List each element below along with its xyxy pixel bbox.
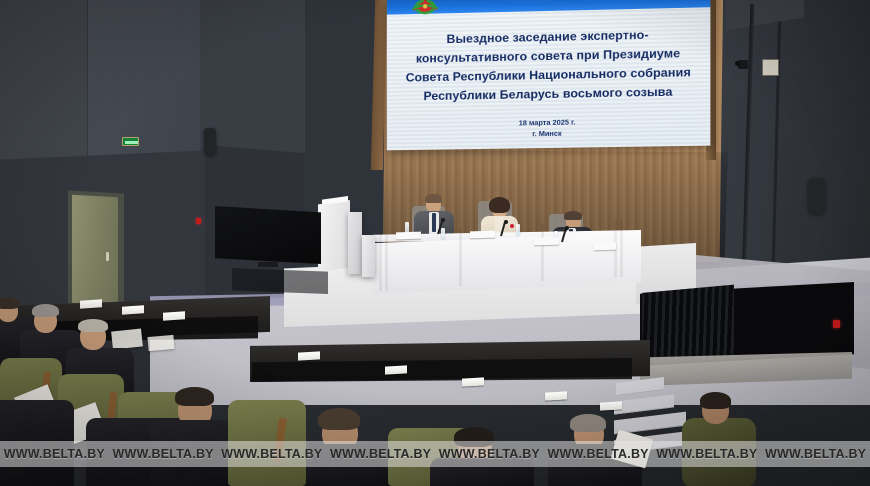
slide-date: 18 марта 2025 г.	[519, 117, 576, 129]
table-panel-rib	[541, 223, 544, 281]
slide-city: г. Минск	[519, 128, 576, 140]
white-lectern	[318, 200, 350, 272]
presidium-name-card	[470, 231, 495, 239]
belta-watermark: WWW.BELTA.BY	[0, 447, 109, 461]
belta-watermark: WWW.BELTA.BY	[761, 447, 870, 461]
wall-speaker	[808, 178, 825, 214]
presidium-name-card	[594, 243, 616, 251]
white-lectern-secondary	[362, 235, 375, 277]
table-panel-rib	[620, 219, 623, 277]
projection-screen: Выездное заседание экспертно- консультат…	[387, 0, 711, 150]
document-paper	[147, 335, 174, 351]
desk-name-card	[385, 365, 407, 374]
desk-name-card	[80, 299, 102, 309]
conference-hall-photo: Выездное заседание экспертно- консультат…	[0, 0, 870, 486]
audience-hair	[700, 392, 731, 409]
slide-title: Выездное заседание экспертно- консультат…	[401, 25, 697, 106]
water-bottle	[441, 228, 445, 240]
belta-watermark-band: WWW.BELTA.BY WWW.BELTA.BY WWW.BELTA.BY W…	[0, 441, 870, 467]
table-panel-rib	[459, 228, 462, 286]
microphone-head	[441, 218, 445, 222]
desk-name-card	[298, 351, 320, 360]
fire-alarm-light	[196, 218, 201, 224]
wall-control-plate[interactable]	[762, 59, 779, 76]
document-paper	[111, 328, 143, 349]
exit-door[interactable]	[72, 195, 118, 305]
belta-watermark: WWW.BELTA.BY	[326, 447, 435, 461]
table-panel-rib	[379, 233, 382, 291]
monitor-stand	[258, 262, 278, 267]
fire-alarm-light	[833, 320, 840, 328]
belta-watermark: WWW.BELTA.BY	[109, 447, 218, 461]
desk-name-card	[545, 391, 567, 400]
belta-watermark: WWW.BELTA.BY	[218, 447, 327, 461]
desk-name-card	[163, 311, 185, 321]
floor-monitor-left	[215, 206, 321, 264]
table-panel-rib	[385, 233, 388, 291]
belta-watermark: WWW.BELTA.BY	[544, 447, 653, 461]
presidium-name-card	[534, 238, 559, 246]
desk-name-card	[600, 401, 622, 410]
slide-date-block: 18 марта 2025 г. г. Минск	[519, 117, 576, 140]
desk-name-card	[122, 305, 144, 315]
monitor-reflection	[232, 268, 328, 294]
belarus-state-emblem-icon	[408, 0, 441, 16]
white-lectern-side	[348, 212, 362, 274]
ceiling-camera-icon	[738, 60, 748, 69]
exit-sign	[122, 137, 139, 146]
microphone-head	[504, 220, 508, 224]
belta-watermark: WWW.BELTA.BY	[435, 447, 544, 461]
microphone-head	[565, 226, 569, 230]
ventilation-grille-slats	[642, 283, 734, 365]
door-handle[interactable]	[106, 252, 109, 261]
belta-watermark: WWW.BELTA.BY	[653, 447, 762, 461]
desk-name-card	[462, 377, 484, 386]
wall-speaker	[204, 128, 216, 155]
slide-content: Выездное заседание экспертно- консультат…	[387, 8, 711, 150]
presidium-name-card	[396, 232, 421, 240]
water-bottle	[516, 224, 520, 236]
